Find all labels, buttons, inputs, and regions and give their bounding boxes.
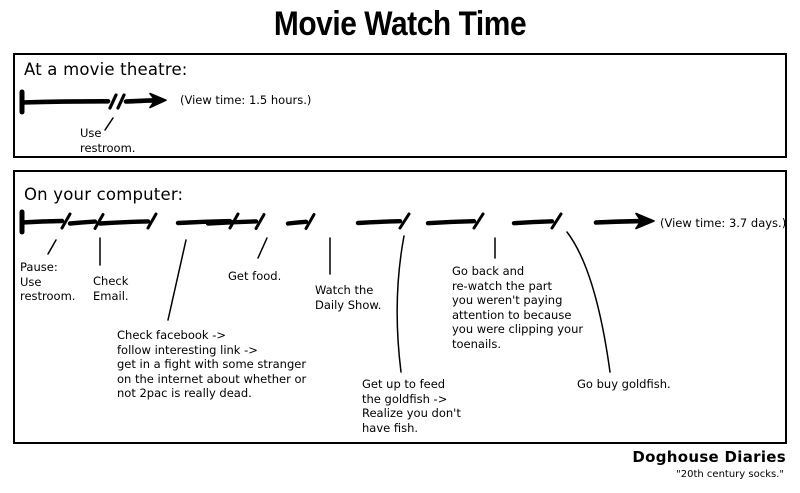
note-check-facebook: Check facebook -> follow interesting lin… bbox=[117, 328, 306, 401]
signature-name: Doghouse Diaries bbox=[632, 448, 786, 466]
view-time-theatre: (View time: 1.5 hours.) bbox=[180, 93, 311, 107]
signature-tagline: "20th century socks." bbox=[676, 469, 784, 480]
panel-heading-computer: On your computer: bbox=[24, 185, 183, 204]
note-go-back-rewatch: Go back and re-watch the part you weren'… bbox=[452, 264, 583, 351]
note-use-restroom: Use restroom. bbox=[80, 126, 135, 155]
note-pause-use-restroom: Pause: Use restroom. bbox=[20, 260, 75, 304]
note-check-email: Check Email. bbox=[93, 274, 129, 303]
note-buy-goldfish: Go buy goldfish. bbox=[577, 377, 671, 392]
comic-canvas: Movie Watch Time At a movie theatre: (Vi… bbox=[0, 0, 800, 493]
view-time-computer: (View time: 3.7 days.) bbox=[660, 216, 786, 230]
note-get-food: Get food. bbox=[228, 269, 281, 284]
note-watch-daily-show: Watch the Daily Show. bbox=[315, 283, 381, 312]
note-feed-goldfish: Get up to feed the goldfish -> Realize y… bbox=[362, 377, 461, 435]
page-title: Movie Watch Time bbox=[48, 5, 752, 43]
panel-heading-theatre: At a movie theatre: bbox=[24, 60, 188, 79]
